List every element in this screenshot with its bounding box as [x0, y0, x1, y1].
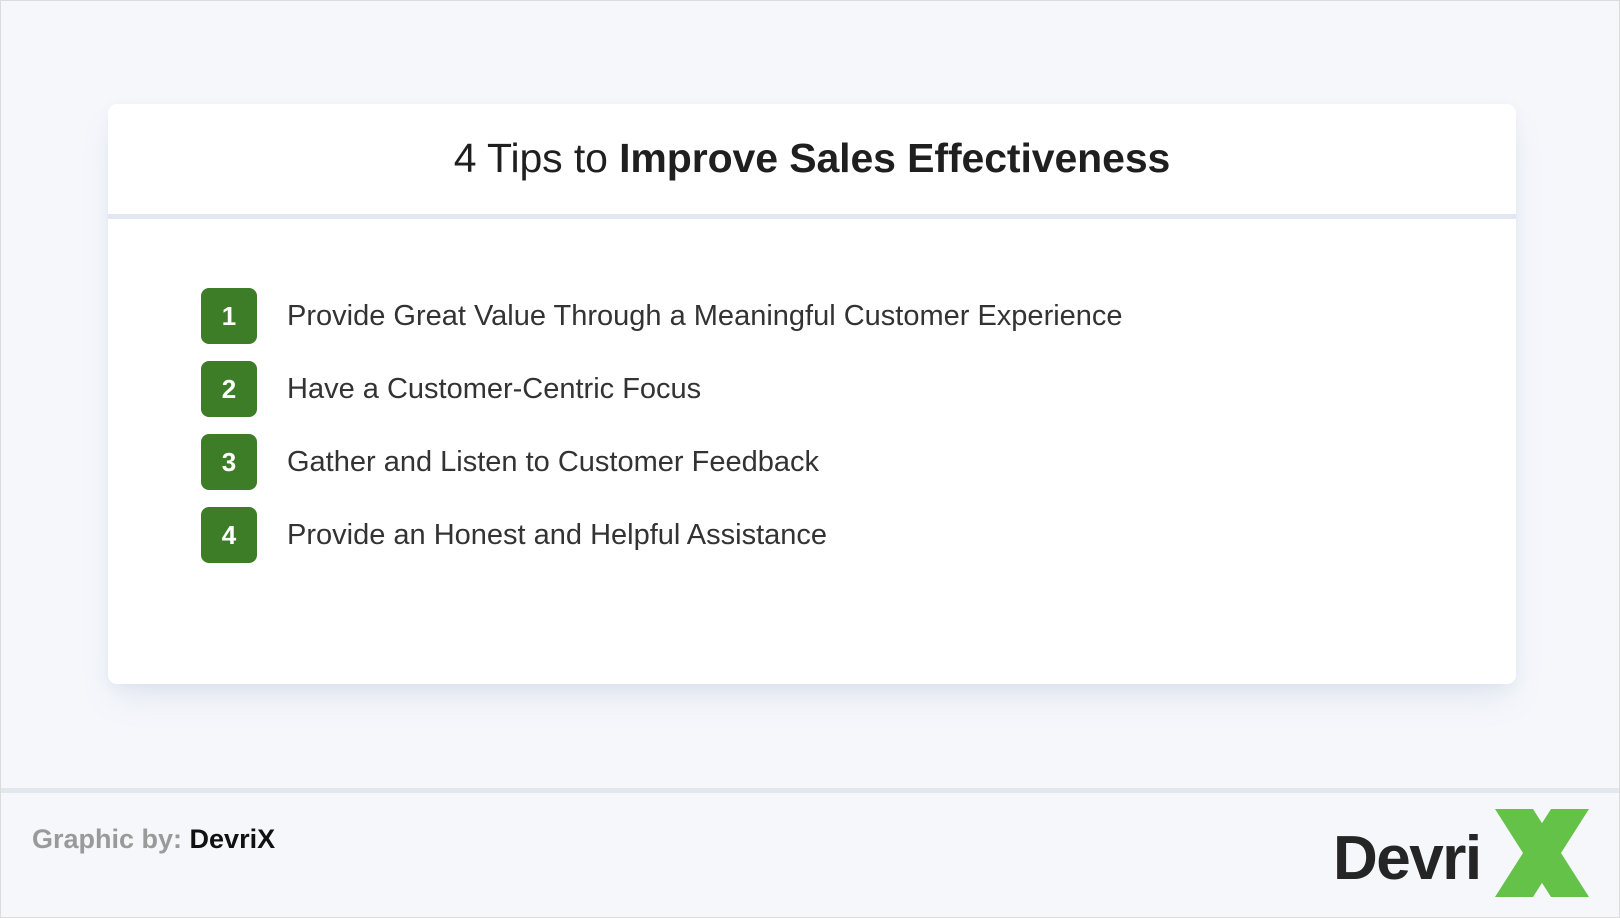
tip-label: Provide Great Value Through a Meaningful… [287, 298, 1123, 334]
header-divider [108, 214, 1516, 219]
tip-label: Provide an Honest and Helpful Assistance [287, 517, 827, 553]
credit-line: Graphic by: DevriX [32, 823, 275, 855]
tips-card: 4 Tips to Improve Sales Effectiveness 1 … [108, 104, 1516, 684]
credit-brand: DevriX [190, 824, 276, 854]
title-regular-part: 4 Tips to [454, 135, 619, 181]
tip-label: Gather and Listen to Customer Feedback [287, 444, 819, 480]
footer: Graphic by: DevriX Devri [1, 793, 1619, 918]
list-item: 1 Provide Great Value Through a Meaningf… [201, 288, 1476, 344]
logo-x-mark-icon [1495, 809, 1589, 897]
list-item: 3 Gather and Listen to Customer Feedback [201, 434, 1476, 490]
infographic-page: 4 Tips to Improve Sales Effectiveness 1 … [0, 0, 1620, 918]
tip-number-badge: 2 [201, 361, 257, 417]
tip-number-badge: 4 [201, 507, 257, 563]
tip-number-badge: 3 [201, 434, 257, 490]
credit-label: Graphic by: [32, 824, 182, 854]
devrix-logo: Devri [1327, 801, 1597, 905]
tips-list: 1 Provide Great Value Through a Meaningf… [201, 288, 1476, 563]
tip-number-badge: 1 [201, 288, 257, 344]
page-title: 4 Tips to Improve Sales Effectiveness [454, 134, 1170, 183]
list-item: 4 Provide an Honest and Helpful Assistan… [201, 507, 1476, 563]
list-item: 2 Have a Customer-Centric Focus [201, 361, 1476, 417]
tip-label: Have a Customer-Centric Focus [287, 371, 701, 407]
card-header: 4 Tips to Improve Sales Effectiveness [108, 104, 1516, 214]
title-strong-part: Improve Sales Effectiveness [619, 135, 1170, 181]
logo-wordmark: Devri [1333, 824, 1481, 893]
content-region: 4 Tips to Improve Sales Effectiveness 1 … [1, 1, 1619, 788]
